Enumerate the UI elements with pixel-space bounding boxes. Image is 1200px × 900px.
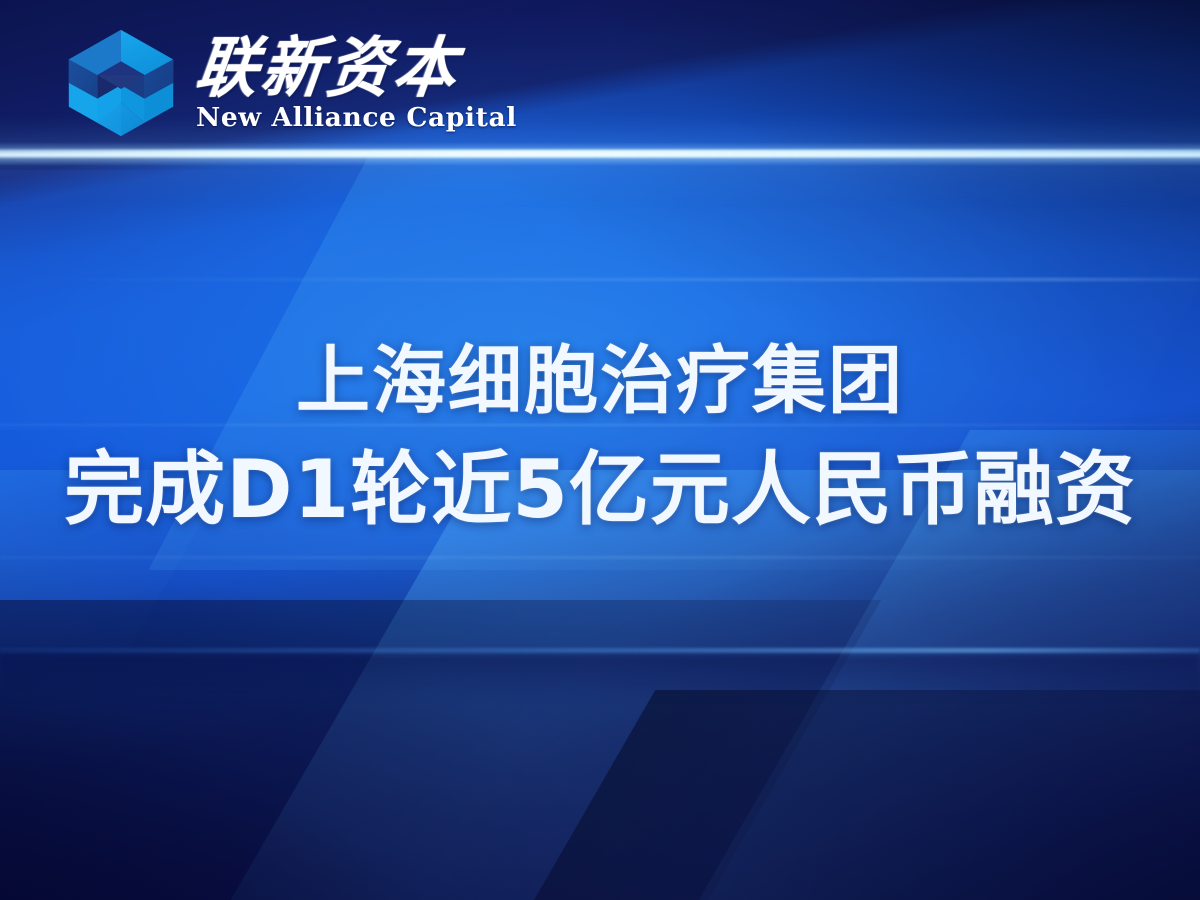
announcement-slide: 联新资本 New Alliance Capital 上海细胞治疗集团 完成D1轮… bbox=[0, 0, 1200, 900]
headline-block: 上海细胞治疗集团 完成D1轮近5亿元人民币融资 bbox=[0, 344, 1200, 530]
brand-name-en: New Alliance Capital bbox=[196, 105, 517, 132]
headline-line-1: 上海细胞治疗集团 bbox=[0, 344, 1200, 418]
brand-logo[interactable]: 联新资本 New Alliance Capital bbox=[62, 24, 517, 142]
brand-name-cn: 联新资本 bbox=[192, 35, 521, 101]
cube-logo-icon bbox=[62, 24, 180, 142]
brand-wordmark: 联新资本 New Alliance Capital bbox=[196, 35, 517, 132]
headline-line-2: 完成D1轮近5亿元人民币融资 bbox=[0, 450, 1200, 530]
